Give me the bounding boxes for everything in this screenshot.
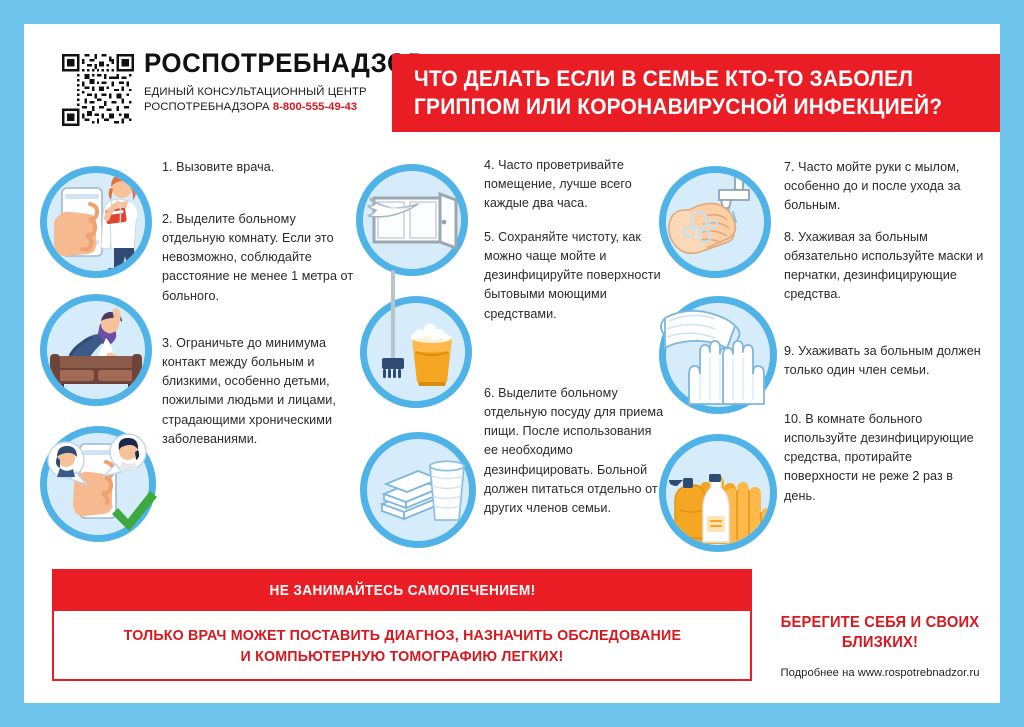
phone-contacts-check-icon <box>40 426 156 542</box>
poster-footer: НЕ ЗАНИМАЙТЕСЬ САМОЛЕЧЕНИЕМ! ТОЛЬКО ВРАЧ… <box>24 569 1000 703</box>
tip-9-text: 9. Ухаживать за больным должен только од… <box>784 342 984 380</box>
doctor-phone-icon <box>40 166 152 278</box>
tip-4: 4. Часто проветривайте помещение, лучше … <box>484 156 664 213</box>
tip-1: 1. Вызовите врача. <box>162 158 357 177</box>
warning-detail: ТОЛЬКО ВРАЧ МОЖЕТ ПОСТАВИТЬ ДИАГНОЗ, НАЗ… <box>54 613 750 679</box>
brand-name: РОСПОТРЕБНАДЗОР <box>144 50 384 77</box>
more-info-link[interactable]: Подробнее на www.rospotrebnadzor.ru <box>766 667 994 679</box>
tip-8: 8. Ухаживая за больным обязательно испол… <box>784 228 984 305</box>
poster-sheet: РОСПОТРЕБНАДЗОР ЕДИНЫЙ КОНСУЛЬТАЦИОННЫЙ … <box>24 24 1000 703</box>
disposable-dishes-icon <box>360 432 476 548</box>
mask-gloves-icon <box>659 296 777 414</box>
warning-detail-line2: И КОМПЬЮТЕРНУЮ ТОМОГРАФИЮ ЛЕГКИХ! <box>241 646 564 667</box>
tip-10: 10. В комнате больного используйте дезин… <box>784 410 984 506</box>
open-window-icon <box>356 164 468 276</box>
tips-column-1: 1. Вызовите врача. 2. Выделите больному … <box>34 144 364 564</box>
handwashing-icon <box>659 166 771 278</box>
tip-3: 3. Ограничьте до минимума контакт между … <box>162 334 362 449</box>
warning-banner-text: НЕ ЗАНИМАЙТЕСЬ САМОЛЕЧЕНИЕМ! <box>269 583 535 599</box>
tip-10-text: 10. В комнате больного используйте дезин… <box>784 410 984 506</box>
disinfectant-gloves-icon <box>659 434 777 552</box>
care-line1: БЕРЕГИТЕ СЕБЯ И СВОИХ <box>772 613 989 633</box>
brand-subtitle-line2: РОСПОТРЕБНАДЗОРА <box>144 101 270 113</box>
tips-grid: 1. Вызовите врача. 2. Выделите больному … <box>24 144 1000 564</box>
tip-3-text: 3. Ограничьте до минимума контакт между … <box>162 334 362 449</box>
brand-subtitle-line1: ЕДИНЫЙ КОНСУЛЬТАЦИОННЫЙ ЦЕНТР <box>144 85 394 100</box>
warning-box: НЕ ЗАНИМАЙТЕСЬ САМОЛЕЧЕНИЕМ! ТОЛЬКО ВРАЧ… <box>52 569 752 681</box>
hotline-phone[interactable]: 8-800-555-49-43 <box>273 101 357 113</box>
mop-bucket-icon <box>360 296 472 408</box>
tip-4-text: 4. Часто проветривайте помещение, лучше … <box>484 156 664 213</box>
qr-code-icon <box>62 54 134 126</box>
brand-block: РОСПОТРЕБНАДЗОР ЕДИНЫЙ КОНСУЛЬТАЦИОННЫЙ … <box>144 50 394 116</box>
tip-6-text: 6. Выделите больному отдельную посуду дл… <box>484 384 666 518</box>
tip-2: 2. Выделите больному отдельную комнату. … <box>162 210 362 306</box>
tips-column-2: 4. Часто проветривайте помещение, лучше … <box>344 144 664 564</box>
poster-title-banner: ЧТО ДЕЛАТЬ ЕСЛИ В СЕМЬЕ КТО-ТО ЗАБОЛЕЛ Г… <box>392 54 1000 132</box>
tip-5: 5. Сохраняйте чистоту, как можно чаще мо… <box>484 228 664 324</box>
warning-detail-line1: ТОЛЬКО ВРАЧ МОЖЕТ ПОСТАВИТЬ ДИАГНОЗ, НАЗ… <box>123 625 680 646</box>
tips-column-3: 7. Часто мойте руки с мылом, особенно до… <box>649 144 994 564</box>
poster-title-line2: ГРИППОМ ИЛИ КОРОНАВИРУСНОЙ ИНФЕКЦИЕЙ? <box>414 93 959 121</box>
tip-1-text: 1. Вызовите врача. <box>162 158 357 177</box>
tip-7-text: 7. Часто мойте руки с мылом, особенно до… <box>784 158 984 215</box>
poster-frame: РОСПОТРЕБНАДЗОР ЕДИНЫЙ КОНСУЛЬТАЦИОННЫЙ … <box>0 0 1024 727</box>
tip-6: 6. Выделите больному отдельную посуду дл… <box>484 384 666 518</box>
warning-banner: НЕ ЗАНИМАЙТЕСЬ САМОЛЕЧЕНИЕМ! <box>54 571 750 611</box>
tip-2-text: 2. Выделите больному отдельную комнату. … <box>162 210 362 306</box>
tip-5-text: 5. Сохраняйте чистоту, как можно чаще мо… <box>484 228 664 324</box>
poster-title-line1: ЧТО ДЕЛАТЬ ЕСЛИ В СЕМЬЕ КТО-ТО ЗАБОЛЕЛ <box>414 65 959 93</box>
care-line2: БЛИЗКИХ! <box>772 633 989 653</box>
tip-8-text: 8. Ухаживая за больным обязательно испол… <box>784 228 984 305</box>
tip-9: 9. Ухаживать за больным должен только од… <box>784 342 984 380</box>
tip-7: 7. Часто мойте руки с мылом, особенно до… <box>784 158 984 215</box>
sick-person-sofa-icon <box>40 294 152 406</box>
care-block: БЕРЕГИТЕ СЕБЯ И СВОИХ БЛИЗКИХ! Подробнее… <box>766 613 994 679</box>
poster-header: РОСПОТРЕБНАДЗОР ЕДИНЫЙ КОНСУЛЬТАЦИОННЫЙ … <box>24 24 1000 142</box>
brand-subtitle: ЕДИНЫЙ КОНСУЛЬТАЦИОННЫЙ ЦЕНТР РОСПОТРЕБН… <box>144 85 394 116</box>
